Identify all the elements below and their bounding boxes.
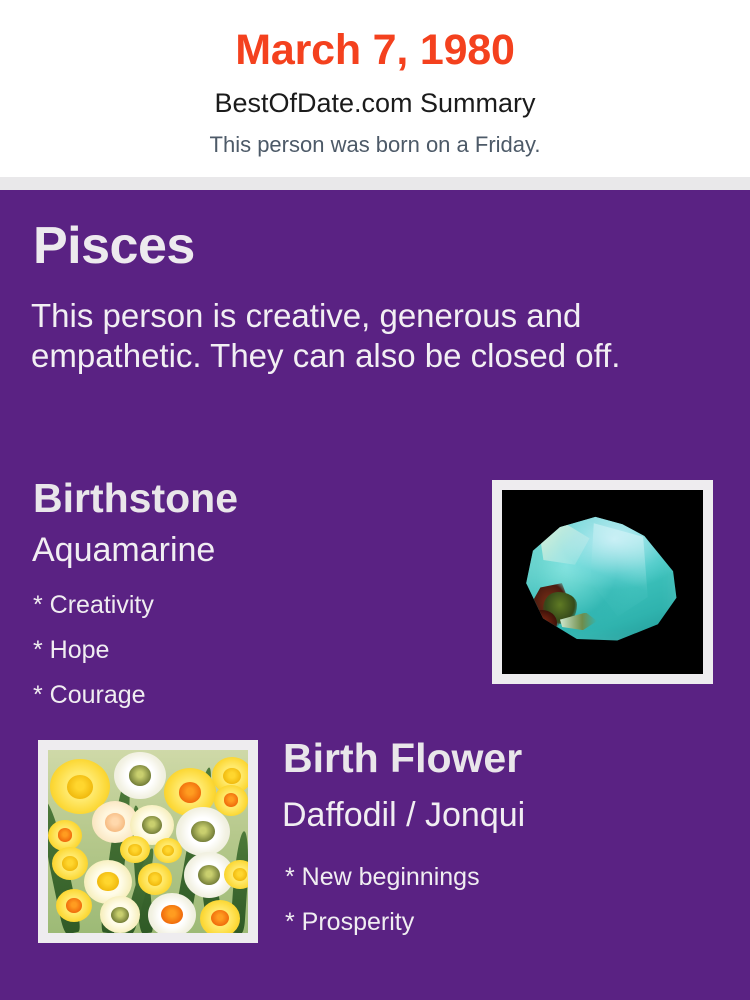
crystal-facet-icon [590, 521, 647, 618]
header-section: March 7, 1980 BestOfDate.com Summary Thi… [0, 0, 750, 177]
zodiac-description: This person is creative, generous and em… [31, 296, 711, 376]
daffodil-bloom-icon [176, 807, 230, 856]
birth-day-note: This person was born on a Friday. [0, 117, 750, 156]
list-item: * Creativity [33, 583, 154, 628]
daffodil-bloom-icon [148, 893, 196, 933]
crystal-body [516, 507, 685, 654]
list-item: * Courage [33, 673, 154, 718]
daffodil-bloom-icon [154, 838, 182, 864]
aquamarine-crystal-image [502, 490, 703, 674]
header-divider [0, 177, 750, 190]
daffodil-bloom-icon [114, 752, 166, 800]
birthstone-name: Aquamarine [32, 533, 215, 567]
birthstone-traits-list: * Creativity * Hope * Courage [33, 583, 154, 718]
birthstone-heading: Birthstone [33, 478, 238, 519]
daffodil-bloom-icon [56, 889, 92, 922]
daffodil-bloom-icon [224, 860, 248, 889]
crystal-inclusion-icon [526, 610, 556, 636]
daffodil-bloom-icon [200, 900, 240, 933]
birthstone-image-frame [492, 480, 713, 684]
site-name: BestOfDate.com Summary [0, 72, 750, 117]
birthflower-traits-list: * New beginnings * Prosperity [285, 855, 480, 945]
birthflower-name: Daffodil / Jonqui [282, 798, 525, 832]
daffodil-field-image [48, 750, 248, 933]
birthflower-image-frame [38, 740, 258, 943]
list-item: * Hope [33, 628, 154, 673]
daffodil-bloom-icon [52, 847, 88, 880]
birthflower-heading: Birth Flower [283, 738, 522, 779]
list-item: * New beginnings [285, 855, 480, 900]
summary-card: March 7, 1980 BestOfDate.com Summary Thi… [0, 0, 750, 1000]
zodiac-sign-name: Pisces [33, 220, 195, 272]
page-title-date: March 7, 1980 [0, 0, 750, 72]
list-item: * Prosperity [285, 900, 480, 945]
daffodil-bloom-icon [100, 896, 140, 933]
daffodil-bloom-icon [138, 863, 172, 894]
daffodil-bloom-icon [48, 820, 82, 851]
crystal-highlight-icon [531, 524, 592, 571]
